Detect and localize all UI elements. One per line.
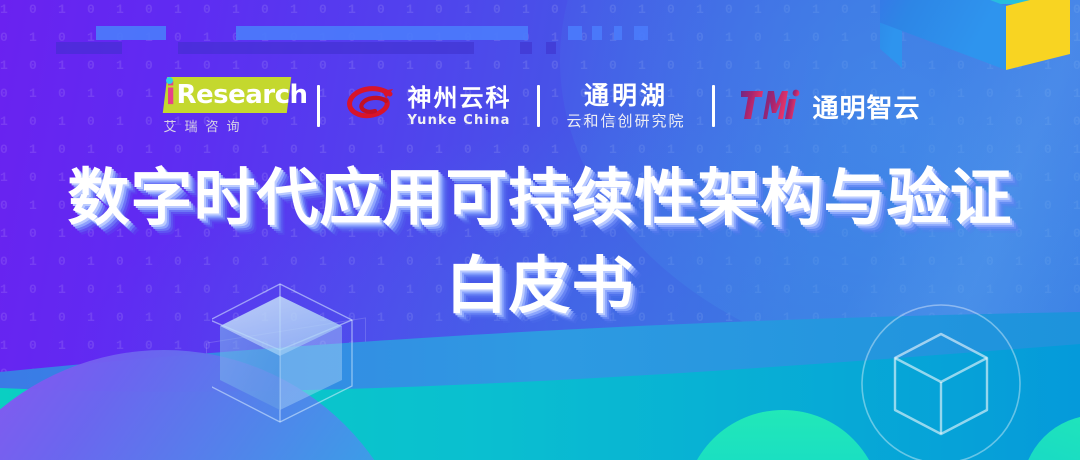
iresearch-chinese-name: 艾瑞咨询 [163, 116, 247, 135]
tongminghu-name: 通明湖 [566, 83, 685, 108]
yunke-swirl-icon [346, 85, 398, 127]
logo-divider-3 [712, 85, 715, 127]
logo-tongminghu: 通明湖 云和信创研究院 [566, 83, 685, 129]
logo-divider-1 [317, 85, 320, 127]
iresearch-wordmark: Research [176, 79, 307, 111]
yunke-chinese-name: 神州云科 [407, 86, 511, 110]
yunke-english-name: Yunke China [407, 114, 511, 127]
title-line-2: 白皮书 [0, 248, 1080, 324]
tongminghu-institute-name: 云和信创研究院 [566, 114, 685, 129]
logo-tmi-tongmingzhiyun: 通明智云 [741, 88, 921, 125]
logo-yunke-china: 神州云科 Yunke China [346, 85, 511, 127]
page-title: 数字时代应用可持续性架构与验证 白皮书 [0, 160, 1080, 324]
partner-logo-row: i Research 艾瑞咨询 神州云科 Yunke China [0, 72, 1080, 140]
tmi-chinese-name: 通明智云 [813, 88, 921, 125]
tmi-mark-icon [741, 89, 803, 123]
iresearch-i-letter: i [165, 80, 175, 110]
title-line-1: 数字时代应用可持续性架构与验证 [0, 160, 1080, 236]
logo-divider-2 [537, 85, 540, 127]
logo-iresearch: i Research 艾瑞咨询 [159, 75, 291, 137]
whitepaper-cover-banner: 1 0 1 0 1 0 1 0 1 0 1 0 1 0 1 0 1 0 0 1 … [0, 0, 1080, 460]
